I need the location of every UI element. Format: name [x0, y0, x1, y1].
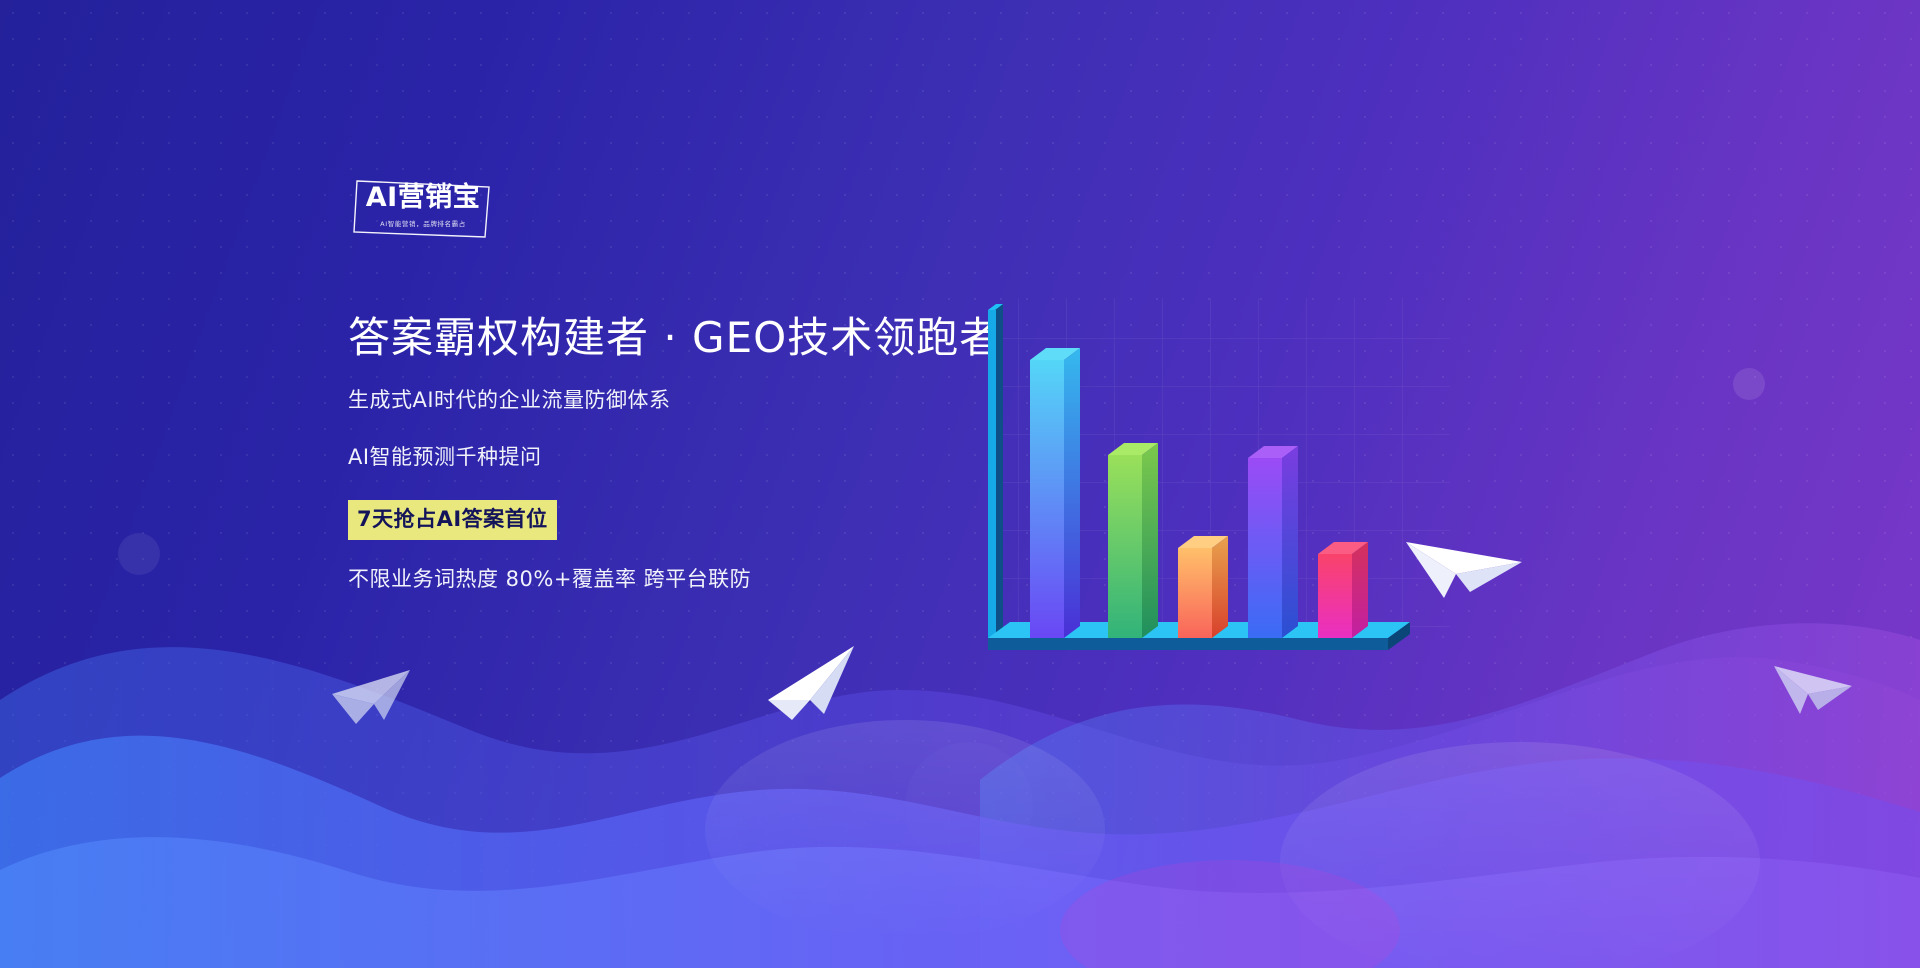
bar-1: [1030, 348, 1080, 638]
circle-decoration: [1733, 368, 1765, 400]
paper-plane-icon: [766, 644, 862, 724]
bar-chart-illustration: [970, 290, 1450, 670]
logo-tagline: AI智能营销，品牌排名霸占: [353, 218, 493, 228]
hero-banner: AI营销宝 AI智能营销，品牌排名霸占 答案霸权构建者 · GEO技术领跑者 生…: [0, 0, 1920, 968]
bar-5: [1318, 542, 1368, 638]
hero-copy-block: 答案霸权构建者 · GEO技术领跑者 生成式AI时代的企业流量防御体系 AI智能…: [348, 312, 1068, 593]
paper-plane-icon: [330, 664, 414, 730]
bar-4: [1248, 446, 1298, 638]
subtitle-line-2: AI智能预测千种提问: [348, 444, 1068, 471]
chart-y-axis: [988, 304, 1003, 648]
paper-plane-icon: [1772, 652, 1856, 722]
page-title: 答案霸权构建者 · GEO技术领跑者: [348, 312, 1068, 363]
subtitle-line-1: 生成式AI时代的企业流量防御体系: [348, 387, 1068, 414]
bar-3: [1178, 536, 1228, 638]
circle-decoration: [905, 742, 1033, 870]
bar-2: [1108, 443, 1158, 638]
brand-logo[interactable]: AI营销宝 AI智能营销，品牌排名霸占: [353, 178, 493, 240]
logo-wordmark: AI营销宝: [353, 184, 493, 211]
highlight-badge: 7天抢占AI答案首位: [348, 500, 557, 540]
subtitle-line-3: 不限业务词热度 80%+覆盖率 跨平台联防: [348, 566, 1068, 593]
circle-decoration: [118, 533, 160, 575]
